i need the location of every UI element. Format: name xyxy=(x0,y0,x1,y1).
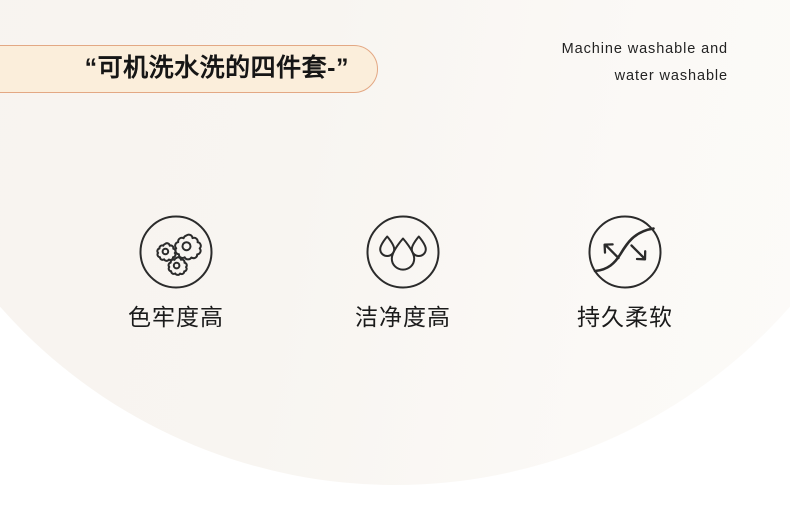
title-pill-banner: “可机洗水洗的四件套-” xyxy=(0,45,378,93)
soft-curve-arrows-icon xyxy=(587,214,663,290)
feature-label: 持久柔软 xyxy=(577,306,673,329)
feature-label: 洁净度高 xyxy=(355,306,451,329)
feature-item-softness: 持久柔软 xyxy=(545,214,705,329)
page-title: “可机洗水洗的四件套-” xyxy=(85,56,349,81)
subtitle-block: Machine washable and water washable xyxy=(428,36,728,90)
subtitle-line-1: Machine washable and xyxy=(428,36,728,63)
water-drops-icon xyxy=(365,214,441,290)
feature-item-colorfastness: 色牢度高 xyxy=(96,214,256,329)
feature-item-cleanliness: 洁净度高 xyxy=(323,214,483,329)
promo-banner-page: “可机洗水洗的四件套-” Machine washable and water … xyxy=(0,0,790,522)
feature-label: 色牢度高 xyxy=(128,306,224,329)
subtitle-line-2: water washable xyxy=(428,63,728,90)
flowers-icon xyxy=(138,214,214,290)
feature-list: 色牢度高 洁净度高 xyxy=(0,214,790,344)
